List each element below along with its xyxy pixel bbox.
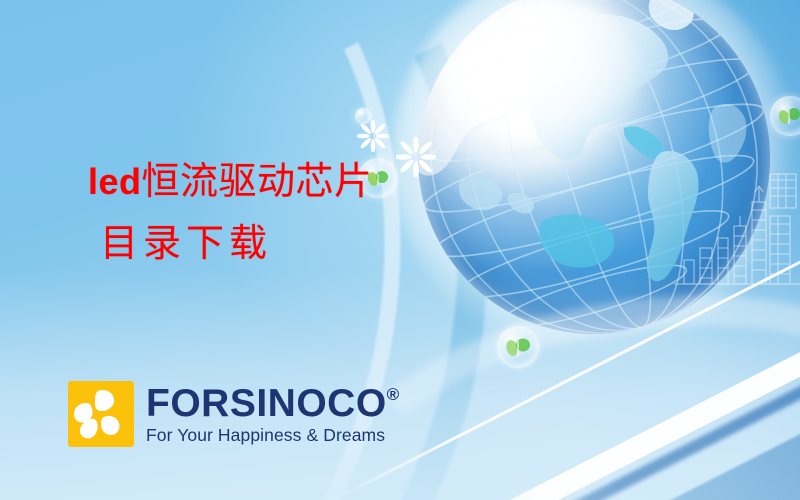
headline-line-1: led恒流驱动芯片 [88, 163, 373, 203]
logo-text-block: FORSINOCO ® For Your Happiness & Dreams [146, 384, 400, 445]
headline-line-2: 目录下载 [100, 225, 373, 265]
logo-mark [68, 381, 134, 447]
leaf-icon [770, 96, 800, 136]
four-petal-flower-icon [68, 381, 134, 447]
logo-wordmark-text: FORSINOCO [146, 384, 387, 423]
banner-image: led恒流驱动芯片 目录下载 FORSINOCO ® For Your Happ… [0, 0, 800, 500]
flower-bloom-large-icon [396, 137, 436, 177]
headline-line-1-cjk: 恒流驱动芯片 [142, 161, 373, 203]
leaf-icon [497, 326, 539, 368]
city-skyline-icon [674, 168, 800, 298]
headline-line-1-latin: led [88, 161, 142, 202]
bubble-tiny [355, 108, 371, 124]
logo-wordmark: FORSINOCO ® [146, 384, 400, 423]
bubble-leaf-right [770, 96, 800, 136]
logo-tagline: For Your Happiness & Dreams [146, 427, 400, 445]
company-logo: FORSINOCO ® For Your Happiness & Dreams [68, 381, 400, 447]
registered-trademark-icon: ® [387, 386, 400, 403]
bubble-leaf-center [497, 326, 539, 368]
flower-bloom-small-icon [357, 120, 389, 152]
headline: led恒流驱动芯片 目录下载 [88, 163, 373, 264]
